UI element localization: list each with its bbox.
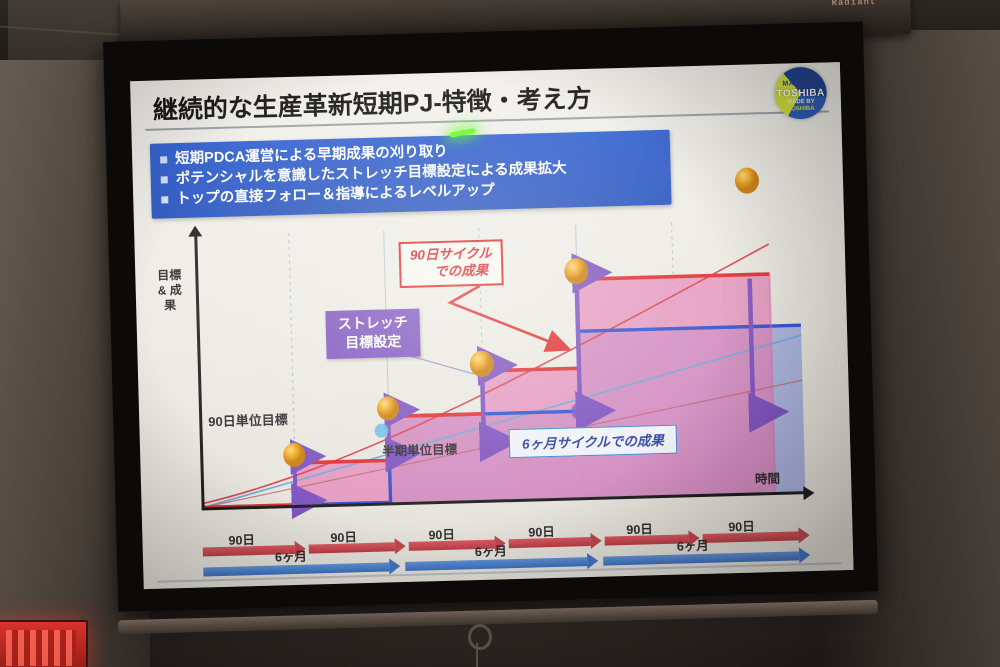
square-bullet-icon	[161, 176, 168, 183]
copyright-text: © 2016 Toshiba Client Solutions Co., Ltd…	[610, 572, 802, 589]
timeline-label-90day: 90日	[626, 518, 653, 538]
annotation-text: 6ヶ月サイクルでの成果	[522, 429, 664, 453]
timeline-label-90day: 90日	[228, 529, 255, 549]
gap-arrow-3	[482, 366, 484, 442]
stretch-marker	[735, 167, 760, 194]
bullet-list: 短期PDCA運営による早期成果の刈り取り ポテンシャルを意識したストレッチ目標設…	[150, 130, 672, 219]
housing-brand-label: Radiant	[831, 0, 876, 8]
timeline-label-90day: 90日	[330, 526, 357, 546]
square-bullet-icon	[161, 196, 168, 203]
annotation-line-2: 目標設定	[338, 332, 408, 353]
screen-pull-cord[interactable]	[476, 643, 478, 667]
annotation-90day-result: 90日サイクル での成果	[399, 239, 504, 288]
step-chart: 目標 & 成果 90日単位目標 半期単位目標 時間 90日サイクル での成果 ス…	[148, 214, 840, 532]
annotation-line-2: での成果	[410, 262, 492, 281]
timeline-label-90day: 90日	[428, 524, 455, 544]
timeline-label-6month: 6ヶ月	[677, 535, 709, 555]
timeline-label-6month: 6ヶ月	[475, 540, 507, 560]
timeline-label-90day: 90日	[528, 521, 555, 541]
x-axis-arrow	[803, 486, 814, 500]
label-time: 時間	[755, 468, 781, 488]
label-90day-unit: 90日単位目標	[208, 409, 288, 430]
timeline-arrow-icon	[395, 538, 406, 554]
annotation-stretch-target: ストレッチ 目標設定	[325, 309, 420, 360]
annotation-6month-result: 6ヶ月サイクルでの成果	[509, 425, 678, 459]
timeline-label-6month: 6ヶ月	[275, 546, 307, 566]
timeline-arrow-icon	[587, 553, 598, 569]
label-half-unit: 半期単位目標	[382, 439, 458, 460]
timeline-arrow-icon	[798, 527, 809, 543]
timeline-label-90day: 90日	[728, 516, 755, 536]
presentation-slide: 継続的な生産革新短期PJ-特徴・考え方 MADE BY TOSHIBA MADE…	[130, 62, 853, 589]
timeline-arrow-icon	[590, 533, 601, 549]
purple-callout-connector	[410, 354, 475, 376]
screen-pull-ring[interactable]	[468, 624, 492, 650]
red-step-area-last	[673, 274, 776, 495]
conference-room-scene: Radiant 継続的な生産革新短期PJ-特徴・考え方 MADE BY TOSH…	[0, 0, 1000, 667]
timeline-arrow-icon	[389, 558, 400, 574]
annotation-line-1: ストレッチ	[337, 313, 407, 334]
exit-sign	[0, 620, 88, 667]
y-axis-arrow	[188, 225, 202, 236]
red-callout-connector	[450, 284, 570, 353]
square-bullet-icon	[160, 156, 167, 163]
projector-screen: 継続的な生産革新短期PJ-特徴・考え方 MADE BY TOSHIBA MADE…	[103, 21, 878, 611]
y-axis-label: 目標 & 成果	[155, 268, 184, 314]
badge-top-text: MADE BY	[774, 79, 826, 87]
page-number: 21	[822, 569, 836, 583]
timeline-arrow-icon	[799, 547, 810, 563]
